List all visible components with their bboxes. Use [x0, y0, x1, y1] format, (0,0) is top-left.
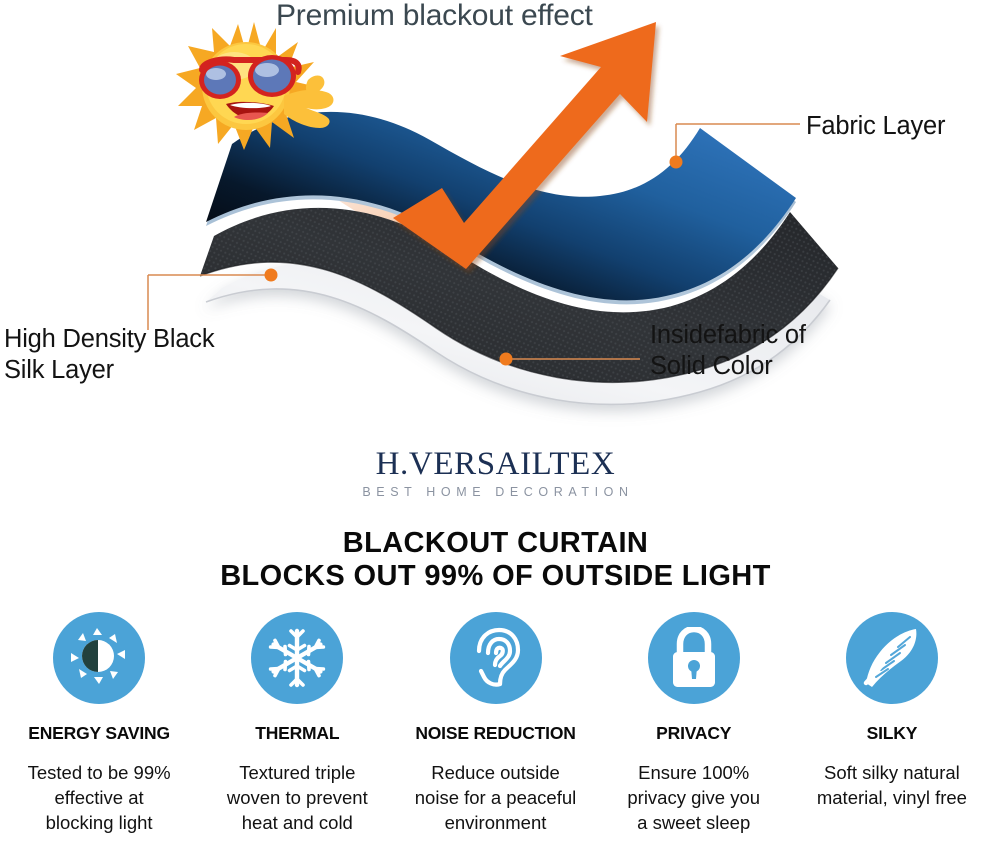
desc-line: material, vinyl free — [817, 785, 967, 810]
hero-caption: Premium blackout effect — [276, 0, 593, 33]
feature-title: PRIVACY — [656, 723, 731, 744]
feature-description: Reduce outside noise for a peaceful envi… — [415, 760, 576, 835]
desc-line: a sweet sleep — [627, 810, 760, 835]
brand-tagline: BEST HOME DECORATION — [0, 484, 991, 501]
feature-energy-saving: ENERGY SAVING Tested to be 99% effective… — [0, 612, 198, 848]
feather-icon — [846, 612, 938, 704]
desc-line: blocking light — [28, 810, 171, 835]
label-fabric-layer: Fabric Layer — [806, 111, 945, 142]
desc-line: environment — [415, 810, 576, 835]
brand-block: H.VERSAILTEX BEST HOME DECORATION — [0, 447, 991, 501]
desc-line: Reduce outside — [415, 760, 576, 785]
half-sun-energy-icon — [53, 612, 145, 704]
headline-block: BLACKOUT CURTAIN BLOCKS OUT 99% OF OUTSI… — [0, 527, 991, 593]
feature-description: Textured triple woven to prevent heat an… — [227, 760, 368, 835]
desc-line: privacy give you — [627, 785, 760, 810]
label-line-1: Insidefabric of — [650, 320, 806, 351]
label-high-density-black-silk-layer: High Density Black Silk Layer — [4, 324, 214, 386]
feature-noise-reduction: NOISE REDUCTION Reduce outside noise for… — [396, 612, 594, 848]
feature-description: Ensure 100% privacy give you a sweet sle… — [627, 760, 760, 835]
feature-description: Tested to be 99% effective at blocking l… — [28, 760, 171, 835]
padlock-icon — [648, 612, 740, 704]
feature-title: NOISE REDUCTION — [415, 723, 575, 744]
label-inside-fabric: Insidefabric of Solid Color — [650, 320, 806, 382]
desc-line: noise for a peaceful — [415, 785, 576, 810]
feature-silky: SILKY Soft silky natural material, vinyl… — [793, 612, 991, 848]
label-line-2: Solid Color — [650, 351, 806, 382]
headline-line-1: BLACKOUT CURTAIN — [0, 527, 991, 560]
ear-icon — [450, 612, 542, 704]
desc-line: heat and cold — [227, 810, 368, 835]
layer-illustration-section: Premium blackout effect Fabric Layer Hig… — [0, 0, 991, 432]
brand-name: H.VERSAILTEX — [0, 447, 991, 481]
feature-title: SILKY — [867, 723, 918, 744]
feature-description: Soft silky natural material, vinyl free — [817, 760, 967, 810]
desc-line: effective at — [28, 785, 171, 810]
desc-line: Soft silky natural — [817, 760, 967, 785]
snowflake-icon — [251, 612, 343, 704]
desc-line: Tested to be 99% — [28, 760, 171, 785]
desc-line: Textured triple — [227, 760, 368, 785]
desc-line: Ensure 100% — [627, 760, 760, 785]
feature-privacy: PRIVACY Ensure 100% privacy give you a s… — [595, 612, 793, 848]
feature-title: ENERGY SAVING — [28, 723, 170, 744]
label-line-1: High Density Black — [4, 324, 214, 355]
feature-title: THERMAL — [255, 723, 339, 744]
label-line-2: Silk Layer — [4, 355, 214, 386]
headline-line-2: BLOCKS OUT 99% OF OUTSIDE LIGHT — [0, 560, 991, 593]
feature-thermal: THERMAL Textured triple woven to prevent… — [198, 612, 396, 848]
features-row: ENERGY SAVING Tested to be 99% effective… — [0, 612, 991, 848]
desc-line: woven to prevent — [227, 785, 368, 810]
